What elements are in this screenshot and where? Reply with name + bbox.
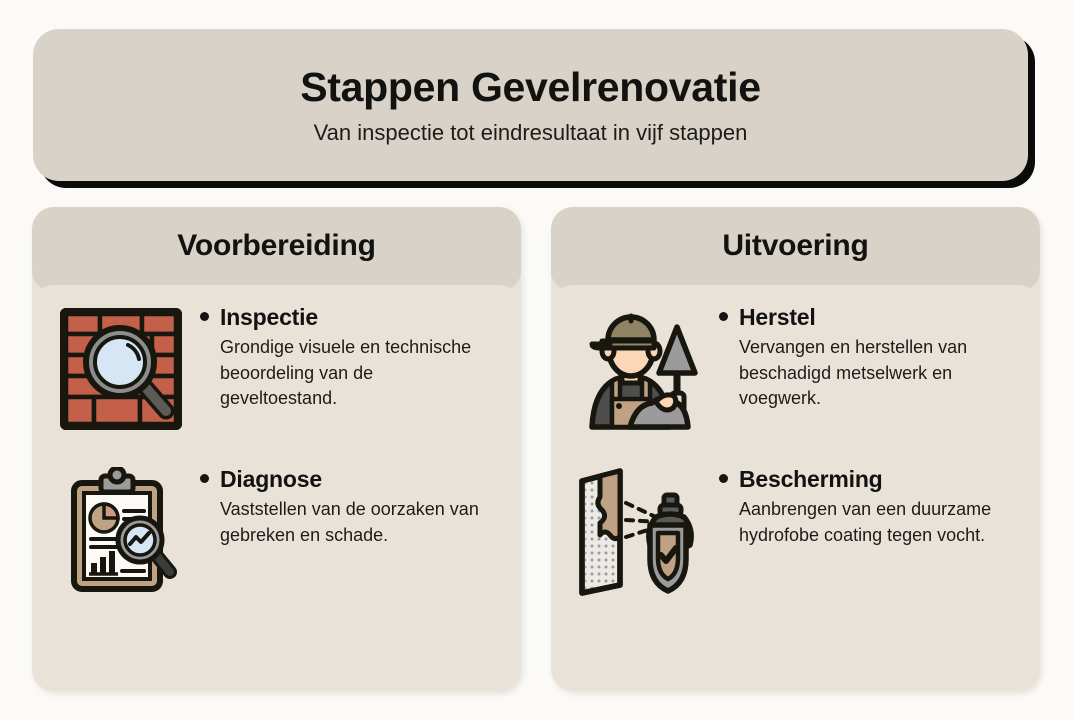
column-header-uitvoering: Uitvoering: [551, 207, 1040, 291]
brick-wall-magnifier-icon: [56, 303, 186, 435]
columns-container: Voorbereiding: [32, 207, 1041, 691]
bullet-icon: [719, 312, 728, 321]
list-item-description: Grondige visuele en technische beoordeli…: [200, 335, 490, 412]
column-title: Voorbereiding: [177, 229, 376, 263]
list-item-title: Herstel: [739, 305, 816, 330]
list-item-title: Bescherming: [739, 467, 883, 492]
page-title: Stappen Gevelrenovatie: [300, 65, 761, 110]
list-item-text: Inspectie Grondige visuele en technische…: [200, 303, 497, 412]
list-item-text: Herstel Vervangen en herstellen van besc…: [719, 303, 1016, 412]
list-item[interactable]: Herstel Vervangen en herstellen van besc…: [575, 303, 1016, 435]
list-item-text: Bescherming Aanbrengen van een duurzame …: [719, 465, 1016, 548]
list-item[interactable]: Inspectie Grondige visuele en technische…: [56, 303, 497, 435]
mason-worker-trowel-icon: [575, 303, 705, 435]
bullet-icon: [719, 474, 728, 483]
list-item[interactable]: Diagnose Vaststellen van de oorzaken van…: [56, 465, 497, 597]
header-card: Stappen Gevelrenovatie Van inspectie tot…: [33, 29, 1028, 181]
column-uitvoering: Uitvoering: [551, 207, 1040, 691]
column-body-uitvoering: Herstel Vervangen en herstellen van besc…: [551, 285, 1040, 691]
list-item-heading: Bescherming: [719, 467, 1016, 492]
spray-coating-shield-icon: [575, 465, 705, 597]
list-item[interactable]: Bescherming Aanbrengen van een duurzame …: [575, 465, 1016, 597]
list-item-heading: Inspectie: [200, 305, 497, 330]
clipboard-analysis-magnifier-icon: [56, 465, 186, 597]
list-item-title: Inspectie: [220, 305, 318, 330]
list-item-description: Vervangen en herstellen van beschadigd m…: [719, 335, 1016, 412]
list-item-description: Vaststellen van de oorzaken van gebreken…: [200, 497, 490, 548]
column-header-voorbereiding: Voorbereiding: [32, 207, 521, 291]
list-item-text: Diagnose Vaststellen van de oorzaken van…: [200, 465, 497, 548]
list-item-title: Diagnose: [220, 467, 322, 492]
list-item-description: Aanbrengen van een duurzame hydrofobe co…: [719, 497, 1016, 548]
column-title: Uitvoering: [722, 229, 868, 263]
bullet-icon: [200, 474, 209, 483]
bullet-icon: [200, 312, 209, 321]
page-subtitle: Van inspectie tot eindresultaat in vijf …: [314, 120, 748, 145]
list-item-heading: Herstel: [719, 305, 1016, 330]
column-body-voorbereiding: Inspectie Grondige visuele en technische…: [32, 285, 521, 691]
column-voorbereiding: Voorbereiding: [32, 207, 521, 691]
list-item-heading: Diagnose: [200, 467, 497, 492]
